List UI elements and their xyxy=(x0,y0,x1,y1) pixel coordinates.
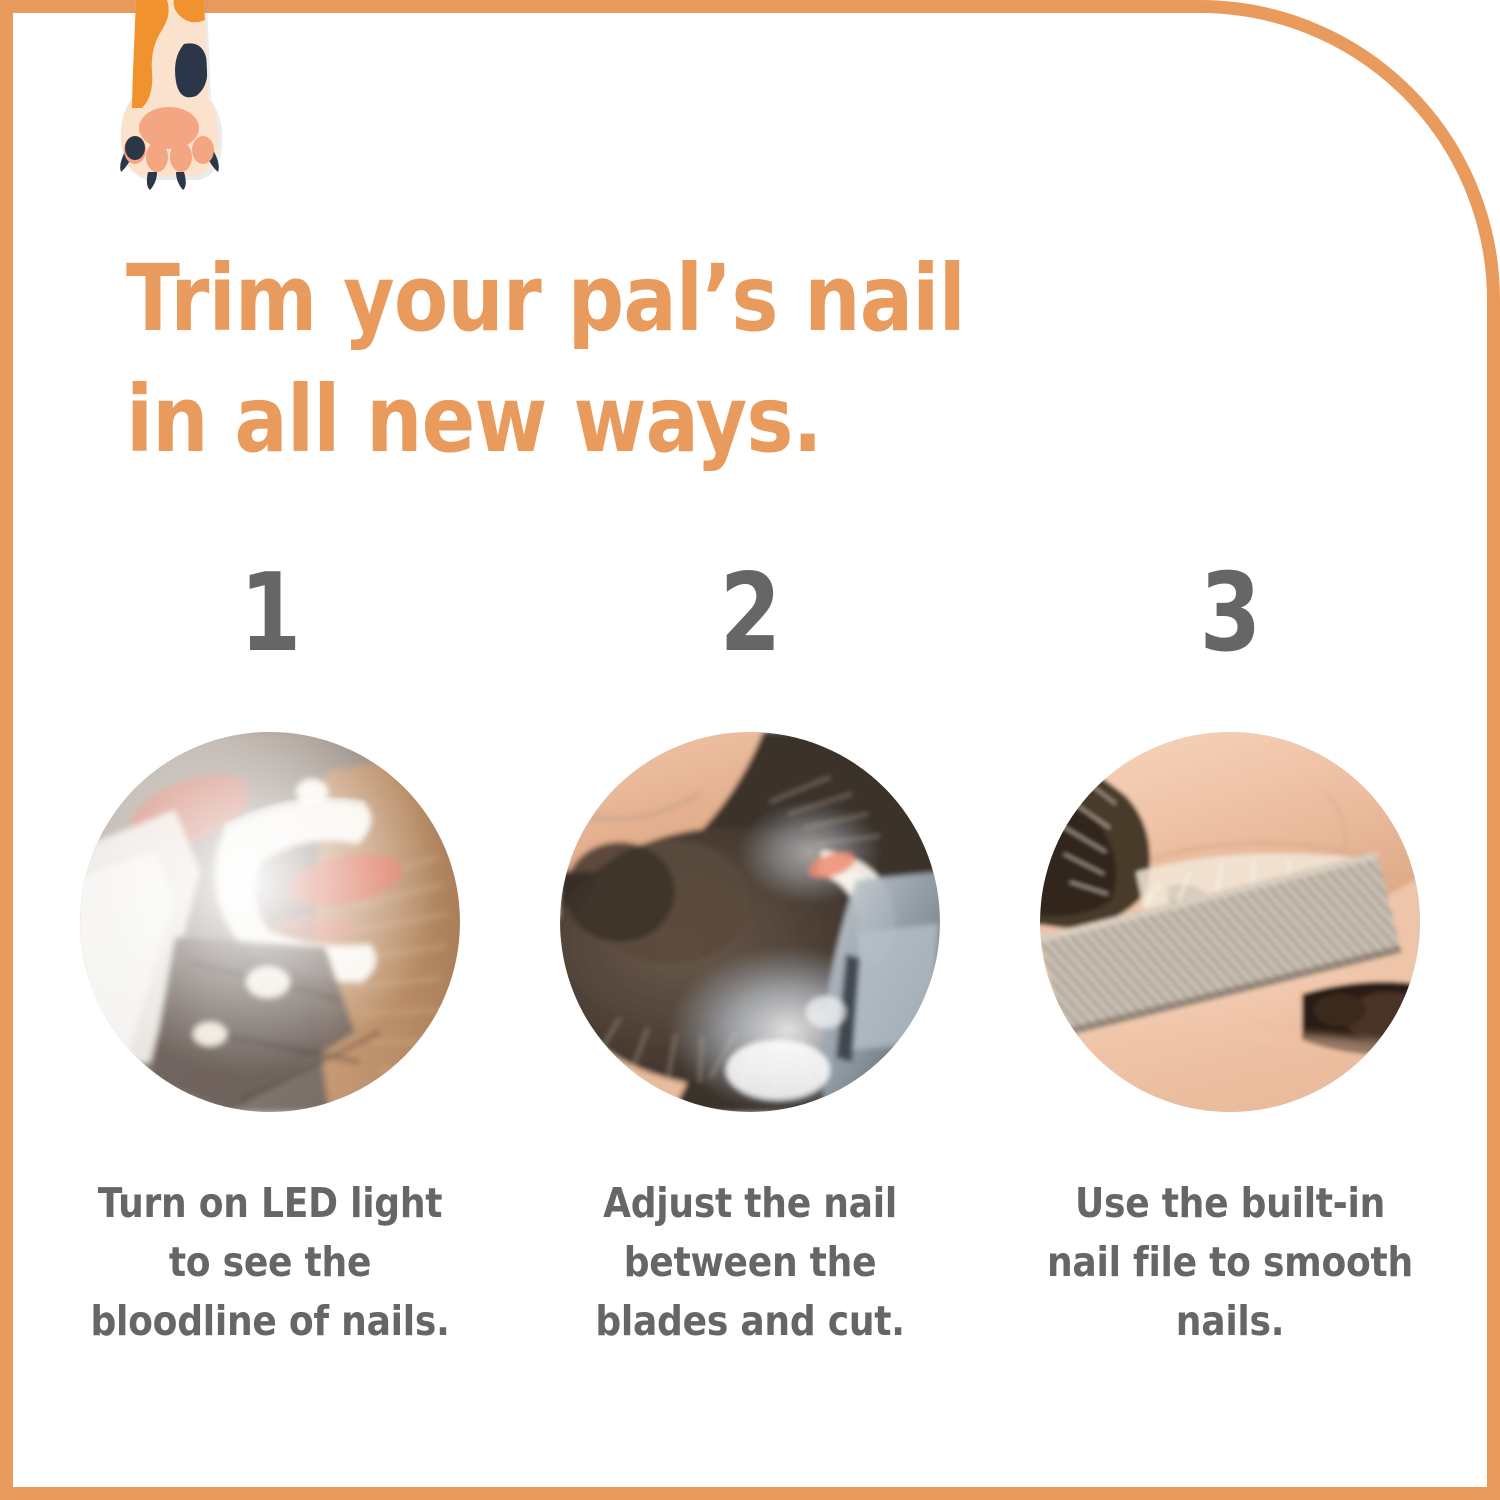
cat-paw-icon xyxy=(112,0,228,190)
step-number-2: 2 xyxy=(720,560,780,670)
step-number-1: 1 xyxy=(240,560,300,670)
page-title: Trim your pal’s nail in all new ways. xyxy=(126,238,986,481)
step-3-caption: Use the built-in nail file to smooth nai… xyxy=(1036,1174,1423,1351)
step-number-3: 3 xyxy=(1200,560,1260,670)
step-item-3: 3 xyxy=(1000,560,1460,1351)
step-item-1: 1 xyxy=(40,560,500,1351)
step-2-photo-adjust-nail-between-blades xyxy=(560,732,940,1112)
step-item-2: 2 xyxy=(520,560,980,1351)
product-infographic-poster: Trim your pal’s nail in all new ways. 1 xyxy=(0,0,1500,1500)
step-3-photo-built-in-nail-file xyxy=(1040,732,1420,1112)
step-1-photo-led-light-bloodline xyxy=(80,732,460,1112)
step-2-caption: Adjust the nail between the blades and c… xyxy=(556,1174,943,1351)
steps-row: 1 xyxy=(40,560,1460,1351)
step-1-caption: Turn on LED light to see the bloodline o… xyxy=(76,1174,463,1351)
